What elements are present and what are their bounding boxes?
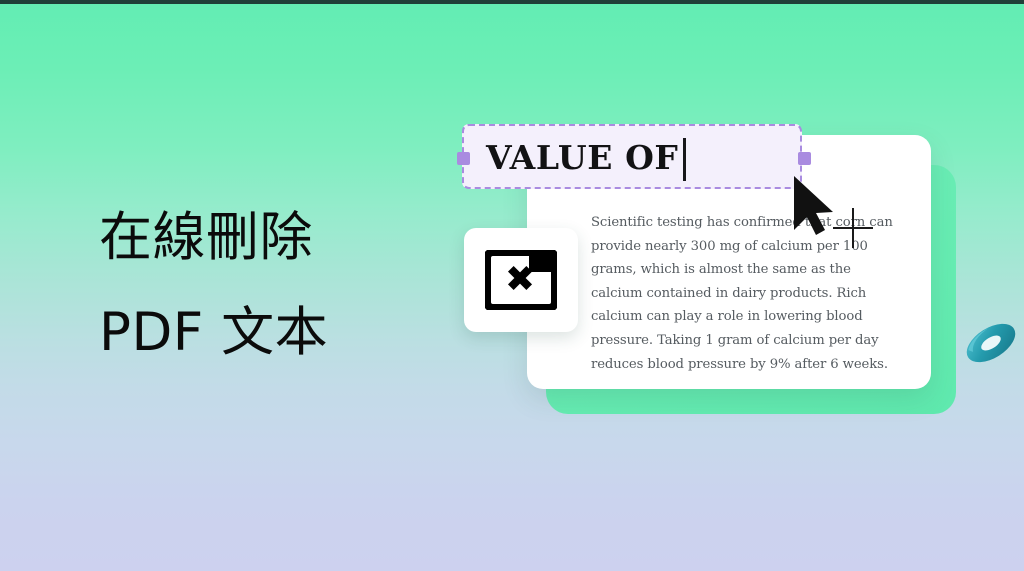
resize-handle-left[interactable]: [457, 152, 470, 165]
text-selection-box[interactable]: VALUE OF: [462, 124, 802, 189]
delete-text-box-chip[interactable]: [464, 228, 578, 332]
document-illustration: Scientific testing has confirmed that co…: [0, 0, 1024, 571]
text-caret: [683, 138, 686, 181]
resize-handle-right[interactable]: [798, 152, 811, 165]
crosshair-cursor: [833, 208, 873, 248]
promo-banner: 在線刪除 PDF 文本 Scientific testing has confi…: [0, 0, 1024, 571]
arrow-cursor: [790, 174, 836, 241]
teal-torus-decoration: [962, 318, 1020, 368]
delete-text-box-icon: [485, 250, 557, 310]
selected-text-label: VALUE OF: [486, 134, 678, 181]
